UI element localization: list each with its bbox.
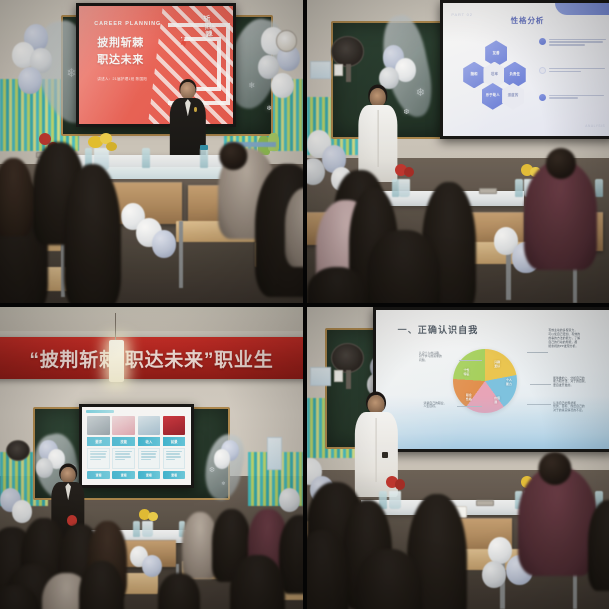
card-body: [87, 448, 110, 469]
bullet-item: [539, 67, 607, 74]
slide-watermark: [376, 396, 609, 449]
wall-fan: [331, 36, 364, 66]
balloon: [482, 561, 506, 588]
bullet-text: [549, 67, 606, 72]
balloon: [279, 488, 300, 512]
card-body: [138, 448, 161, 469]
card-image: [163, 416, 186, 435]
card-button[interactable]: 查看: [87, 471, 110, 479]
bullet-text: [549, 38, 606, 46]
card-heading: 前景: [163, 437, 186, 446]
card-heading: 要求: [87, 437, 110, 446]
bottle-cap: [200, 145, 208, 150]
card-body: [163, 448, 186, 469]
slide-title: 性格分析: [511, 15, 545, 26]
projector-screen: 斩荆棘 CAREER PLANNING 披荆斩棘 职达未来 讲述人：21届护理1…: [76, 3, 237, 127]
card-row: 要求 查看 技能 查看: [87, 416, 185, 479]
projector-screen: PART 02 性格分析 友善 随和 坦率 负责任 乐于助人 适度的: [440, 0, 609, 139]
slide-career-planning-title: 斩荆棘 CAREER PLANNING 披荆斩棘 职达未来 讲述人：21届护理1…: [79, 6, 234, 124]
slide-note-left: 认识个人的兴趣、 对于学习的需求的 问题。: [419, 352, 459, 363]
wall-socket: [476, 500, 494, 506]
event-banner-text: “披荆斩棘 职达未来”职业生: [30, 345, 274, 372]
slide-corner-label: PART 02: [451, 12, 472, 17]
info-card: 要求 查看: [87, 416, 110, 479]
water-bottle: [392, 179, 400, 197]
flower-bloom: [148, 512, 157, 521]
wall-poster: [310, 61, 331, 79]
presenter-badge: [194, 107, 197, 112]
card-button[interactable]: 查看: [138, 471, 161, 479]
wall-poster: [267, 437, 282, 470]
card-heading: 收入: [138, 437, 161, 446]
fan-mount: [346, 64, 351, 82]
card-button[interactable]: 查看: [163, 471, 186, 479]
photo-collage: ❄ ❆ ❄ ❆ 斩荆棘 CAREER PLANNING 披荆斩棘: [0, 0, 609, 609]
card-image: [138, 416, 161, 435]
info-card: 收入 查看: [138, 416, 161, 479]
leader-line: [530, 384, 551, 385]
collage-panel-top-left: ❄ ❆ ❄ ❆ 斩荆棘 CAREER PLANNING 披荆斩棘: [0, 0, 303, 303]
balloon: [271, 73, 294, 99]
snowflake-chalk-art: ❆: [267, 106, 272, 112]
fan-mount: [346, 370, 351, 388]
audience-member: [64, 164, 122, 303]
balloon: [379, 67, 399, 90]
event-banner: “披荆斩棘 职达未来”职业生: [0, 337, 303, 379]
balloon: [12, 500, 32, 523]
audience-member: [0, 158, 33, 237]
card-image: [112, 416, 135, 435]
slide-heading-line2: 职达未来: [97, 51, 144, 67]
hexagon-tag: 随和: [463, 62, 485, 89]
leader-line: [459, 360, 483, 361]
balloon: [18, 67, 42, 94]
bullet-dot: [539, 67, 546, 74]
bullet-item: [539, 94, 607, 101]
card-heading: 技能: [112, 437, 135, 446]
wall-note: [334, 64, 343, 76]
info-card: 技能 查看: [112, 416, 135, 479]
bullet-text: [549, 94, 606, 99]
water-bottle: [200, 148, 208, 168]
audience-member: [367, 230, 439, 303]
slide-footer-label: ANALYSIS: [585, 124, 605, 128]
water-bottle: [515, 179, 523, 197]
presenter-coat-seam: [378, 110, 379, 166]
wall-note: [334, 370, 343, 382]
card-button[interactable]: 查看: [112, 471, 135, 479]
flower-vase: [389, 491, 401, 509]
slide-note-right: 有效主动的多留意力， 可以使自己更加、有效的 的事的方法的能力，了解 自己的行动…: [548, 329, 600, 348]
presenter-head: [180, 82, 195, 99]
pie-slice-label: 兴趣爱好: [494, 360, 500, 368]
slide-self-awareness: 一、正确认识自我 兴趣爱好 个人能力 价值观 职业性格 个性特征 认识个人的兴趣…: [376, 310, 609, 449]
card-image: [87, 416, 110, 435]
info-card: 前景 查看: [163, 416, 186, 479]
slide-byline: 讲述人：21届护理1班 陈国阳: [97, 77, 147, 82]
balloon: [152, 230, 176, 257]
slide-four-cards: 要求 查看 技能 查看: [82, 407, 191, 486]
presenter-clicker: [382, 452, 388, 458]
slide-header-band: [86, 410, 114, 413]
presenter-coat-seam: [376, 418, 377, 482]
slide-eyebrow: CAREER PLANNING: [94, 21, 161, 27]
slide-heading-line1: 披荆斩棘: [97, 34, 144, 50]
flower-vase: [398, 179, 410, 197]
balloon: [142, 555, 162, 578]
desk-leg: [179, 221, 184, 288]
flower-vase: [142, 521, 153, 536]
projector-screen: 要求 查看 技能 查看: [79, 404, 194, 489]
pie-slice-label: 个人能力: [506, 378, 512, 386]
slide-note-right: 能够做的上、分析自己的 能力和方法、对于的自我、 要自发开发的。: [553, 377, 602, 388]
bullet-dot: [539, 94, 546, 101]
water-bottle: [595, 179, 603, 197]
hexagon-tag: 乐于助人: [482, 83, 504, 110]
collage-panel-top-right: ❄ ❆ PART 02 性格分析 友善 随和 坦率 负责任 乐于助人 适: [307, 0, 609, 303]
bullet-dot: [539, 38, 546, 45]
wall-clock: [276, 30, 297, 51]
wall-poster: [310, 367, 331, 385]
projector-screen: 一、正确认识自我 兴趣爱好 个人能力 价值观 职业性格 个性特征 认识个人的兴趣…: [373, 307, 609, 452]
water-bottle: [133, 521, 140, 536]
lamp-rod: [115, 313, 116, 343]
leader-line: [527, 352, 548, 353]
slide-title: 一、正确认识自我: [398, 323, 479, 336]
slide-header-band: [555, 3, 609, 15]
collage-panel-bottom-right: ❄ ❆ 一、正确认识自我 兴趣爱好 个人能力 价值观 职业性格 个性特征 认识个…: [307, 307, 609, 609]
slide-personality-analysis: PART 02 性格分析 友善 随和 坦率 负责任 乐于助人 适度的: [443, 3, 609, 136]
wall-socket: [479, 188, 497, 194]
pie-slice-label: 个性特征: [464, 368, 470, 376]
collage-panel-bottom-left: “披荆斩棘 职达未来”职业生 ❄ ❆ ❄: [0, 307, 303, 609]
bullet-item: [539, 38, 607, 46]
water-bottle: [142, 148, 150, 168]
card-body: [112, 448, 135, 469]
ceiling-lamp: [109, 340, 124, 382]
flower-bloom: [395, 479, 406, 490]
hexagon-tag: 适度的: [502, 83, 524, 110]
presenter-figure: [358, 88, 397, 182]
balloon: [214, 449, 231, 469]
